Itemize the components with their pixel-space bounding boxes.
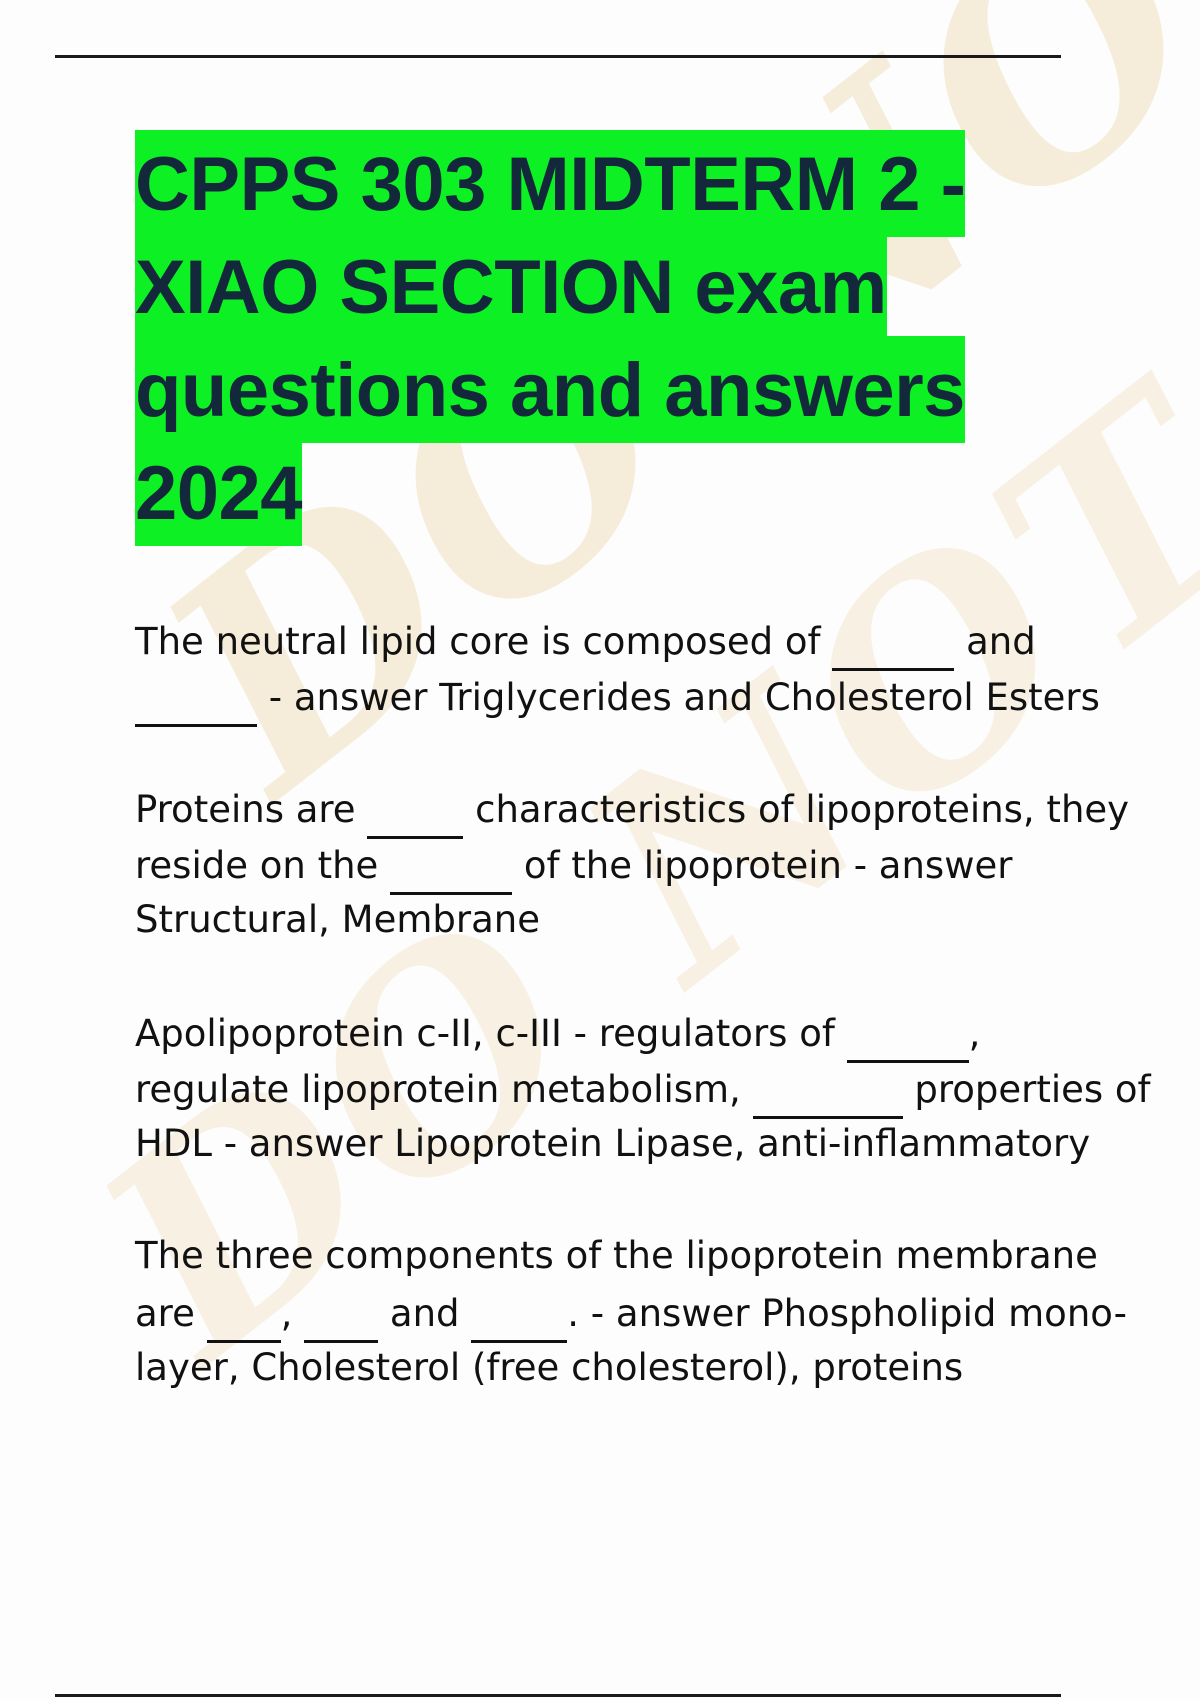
qa-line: layer, Cholesterol (free cholesterol), p… [135, 1340, 1200, 1396]
qa-line: HDL - answer Lipoprotein Lipase, anti-in… [135, 1116, 1200, 1172]
qa-text-run: characteristics of lipoproteins, they [463, 788, 1129, 831]
qa-line: regulate lipoprotein metabolism, propert… [135, 1060, 1200, 1116]
qa-paragraph: Proteins are characteristics of lipoprot… [135, 780, 1200, 948]
fill-in-blank [367, 780, 463, 839]
header-divider [55, 55, 1061, 58]
title-highlight: 2024 [135, 439, 302, 546]
qa-text-run: and [378, 1292, 471, 1335]
footer-divider [55, 1694, 1061, 1697]
qa-text-run: Structural, Membrane [135, 898, 540, 941]
qa-text-run: HDL - answer Lipoprotein Lipase, anti-in… [135, 1122, 1090, 1165]
qa-text-run: The neutral lipid core is composed of [135, 620, 832, 663]
qa-paragraph: The three components of the lipoprotein … [135, 1228, 1200, 1396]
qa-line: Structural, Membrane [135, 892, 1200, 948]
qa-text-run: properties of [903, 1068, 1151, 1111]
qa-text-run: and [954, 620, 1035, 663]
qa-line: The three components of the lipoprotein … [135, 1228, 1200, 1284]
qa-line: are , and . - answer Phospholipid mono- [135, 1284, 1200, 1340]
fill-in-blank [471, 1284, 567, 1343]
qa-text-run: regulate lipoprotein metabolism, [135, 1068, 753, 1111]
qa-line: The neutral lipid core is composed of an… [135, 612, 1200, 668]
page-title-line: 2024 [135, 442, 1200, 545]
qa-text-run: , [969, 1012, 981, 1055]
qa-line: - answer Triglycerides and Cholesterol E… [135, 668, 1200, 724]
page-title-line: questions and answers [135, 339, 1200, 442]
qa-line: Apolipoprotein c-II, c-III - regulators … [135, 1004, 1200, 1060]
qa-text-run: Proteins are [135, 788, 367, 831]
qa-paragraph: Apolipoprotein c-II, c-III - regulators … [135, 1004, 1200, 1172]
qa-text-run: of the lipoprotein - answer [512, 844, 1012, 887]
qa-paragraph: The neutral lipid core is composed of an… [135, 612, 1200, 724]
qa-text-run: Apolipoprotein c-II, c-III - regulators … [135, 1012, 847, 1055]
fill-in-blank [847, 1004, 969, 1063]
fill-in-blank [753, 1060, 903, 1119]
fill-in-blank [207, 1284, 281, 1343]
title-highlight: questions and answers [135, 336, 965, 443]
page-title-line: CPPS 303 MIDTERM 2 - [135, 133, 1200, 236]
fill-in-blank [135, 668, 257, 727]
page-title-line: XIAO SECTION exam [135, 236, 1200, 339]
qa-text-run: The three components of the lipoprotein … [135, 1234, 1098, 1277]
qa-text-run: are [135, 1292, 207, 1335]
title-highlight: CPPS 303 MIDTERM 2 - [135, 130, 965, 237]
qa-text-run: - answer Triglycerides and Cholesterol E… [257, 676, 1100, 719]
qa-text-run: reside on the [135, 844, 390, 887]
qa-line: Proteins are characteristics of lipoprot… [135, 780, 1200, 836]
document-page: DO NOT COPY DO NOT COPY CPPS 303 MIDTERM… [0, 0, 1200, 1700]
fill-in-blank [832, 612, 954, 671]
qa-text-run: . - answer Phospholipid mono- [567, 1292, 1127, 1335]
document-body: The neutral lipid core is composed of an… [135, 612, 1200, 1452]
document-content: CPPS 303 MIDTERM 2 - XIAO SECTION exam q… [0, 0, 1200, 1700]
page-title: CPPS 303 MIDTERM 2 - XIAO SECTION exam q… [135, 133, 1200, 545]
qa-text-run: layer, Cholesterol (free cholesterol), p… [135, 1346, 963, 1389]
title-highlight: XIAO SECTION exam [135, 233, 887, 340]
qa-text-run: , [281, 1292, 305, 1335]
fill-in-blank [304, 1284, 378, 1343]
fill-in-blank [390, 836, 512, 895]
qa-line: reside on the of the lipoprotein - answe… [135, 836, 1200, 892]
